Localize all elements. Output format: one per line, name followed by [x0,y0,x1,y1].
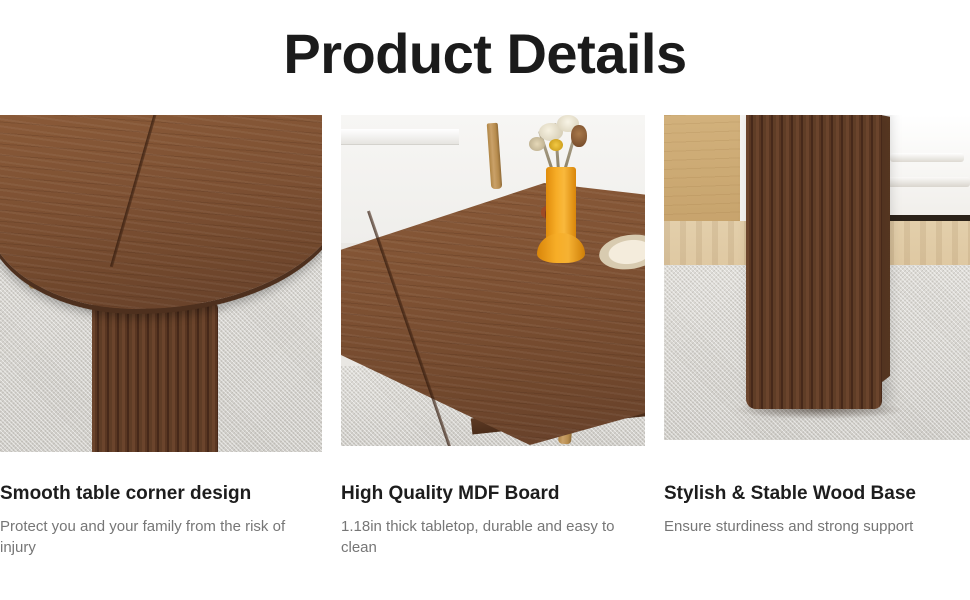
oak-cabinet [664,115,740,237]
pinecone [571,125,587,147]
product-image-wood-base [664,115,970,440]
feature-title-2: High Quality MDF Board [341,482,645,507]
product-image-smooth-corner [0,115,322,452]
feature-subtitle-1: Protect you and your family from the ris… [0,516,322,559]
product-details-page: Product Details [0,0,970,600]
dried-bloom [529,137,545,151]
feature-title-1: Smooth table corner design [0,482,322,507]
wall-molding [890,153,964,162]
wall-molding [341,129,459,145]
feature-subtitle-2: 1.18in thick tabletop, durable and easy … [341,516,645,559]
feature-caption-1: Smooth table corner design Protect you a… [0,482,322,592]
product-image-mdf-board [341,115,645,446]
flower-vase [537,167,583,263]
vase-foot [537,233,585,263]
product-image-gallery [0,115,970,455]
feature-captions: Smooth table corner design Protect you a… [0,482,970,592]
tabletop-seam [110,115,157,267]
dried-bloom [549,139,563,151]
feature-caption-3: Stylish & Stable Wood Base Ensure sturdi… [664,482,970,592]
fluted-pedestal-base [92,303,218,452]
wall-molding [880,177,970,187]
feature-caption-2: High Quality MDF Board 1.18in thick tabl… [341,482,645,592]
feature-title-3: Stylish & Stable Wood Base [664,482,970,507]
feature-subtitle-3: Ensure sturdiness and strong support [664,516,970,537]
page-title: Product Details [0,24,970,84]
fluted-pedestal-base [746,115,882,409]
vase-body [546,167,576,239]
